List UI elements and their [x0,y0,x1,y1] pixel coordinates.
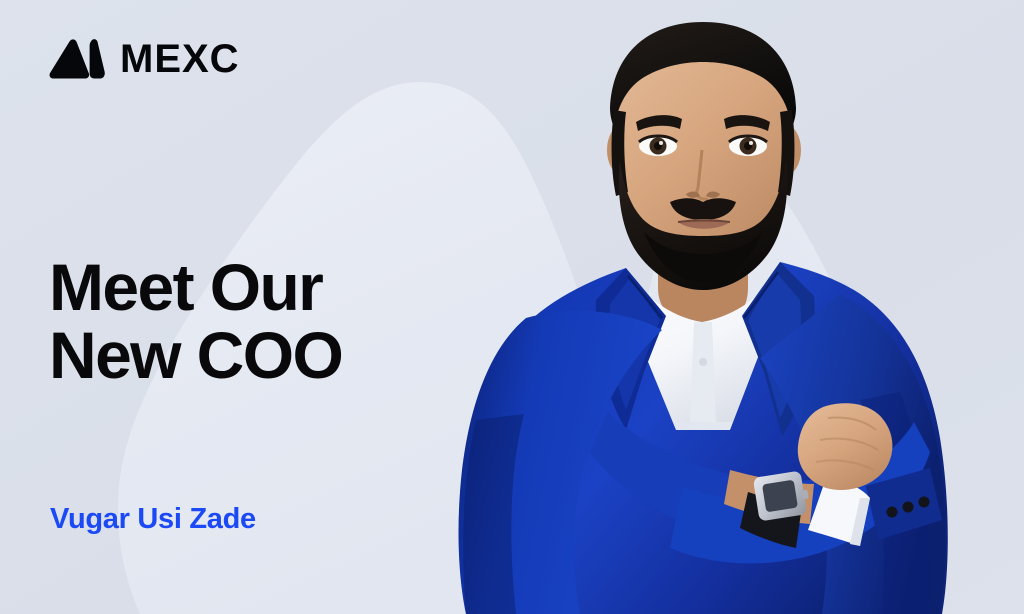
shirt-button [699,358,707,366]
mark-right-peak [90,39,105,78]
headline-line-1: Meet Our [49,254,342,322]
mexc-mountain-mark-icon [48,38,106,80]
headline-line-2: New COO [49,322,342,390]
watch-dial [762,480,798,513]
mexc-coo-announcement-banner: MEXC Meet Our New COO Vugar Usi Zade [0,0,1024,614]
mexc-logo[interactable]: MEXC [48,38,240,80]
person-name: Vugar Usi Zade [50,503,256,536]
portrait-photo [430,0,1024,614]
eye-right [729,136,767,156]
portrait-illustration [430,0,1024,614]
shirt-placket [690,322,716,422]
mexc-wordmark: MEXC [120,39,240,79]
mark-left-peak [50,39,90,78]
page-title: Meet Our New COO [49,254,342,390]
eye-left [639,136,677,156]
